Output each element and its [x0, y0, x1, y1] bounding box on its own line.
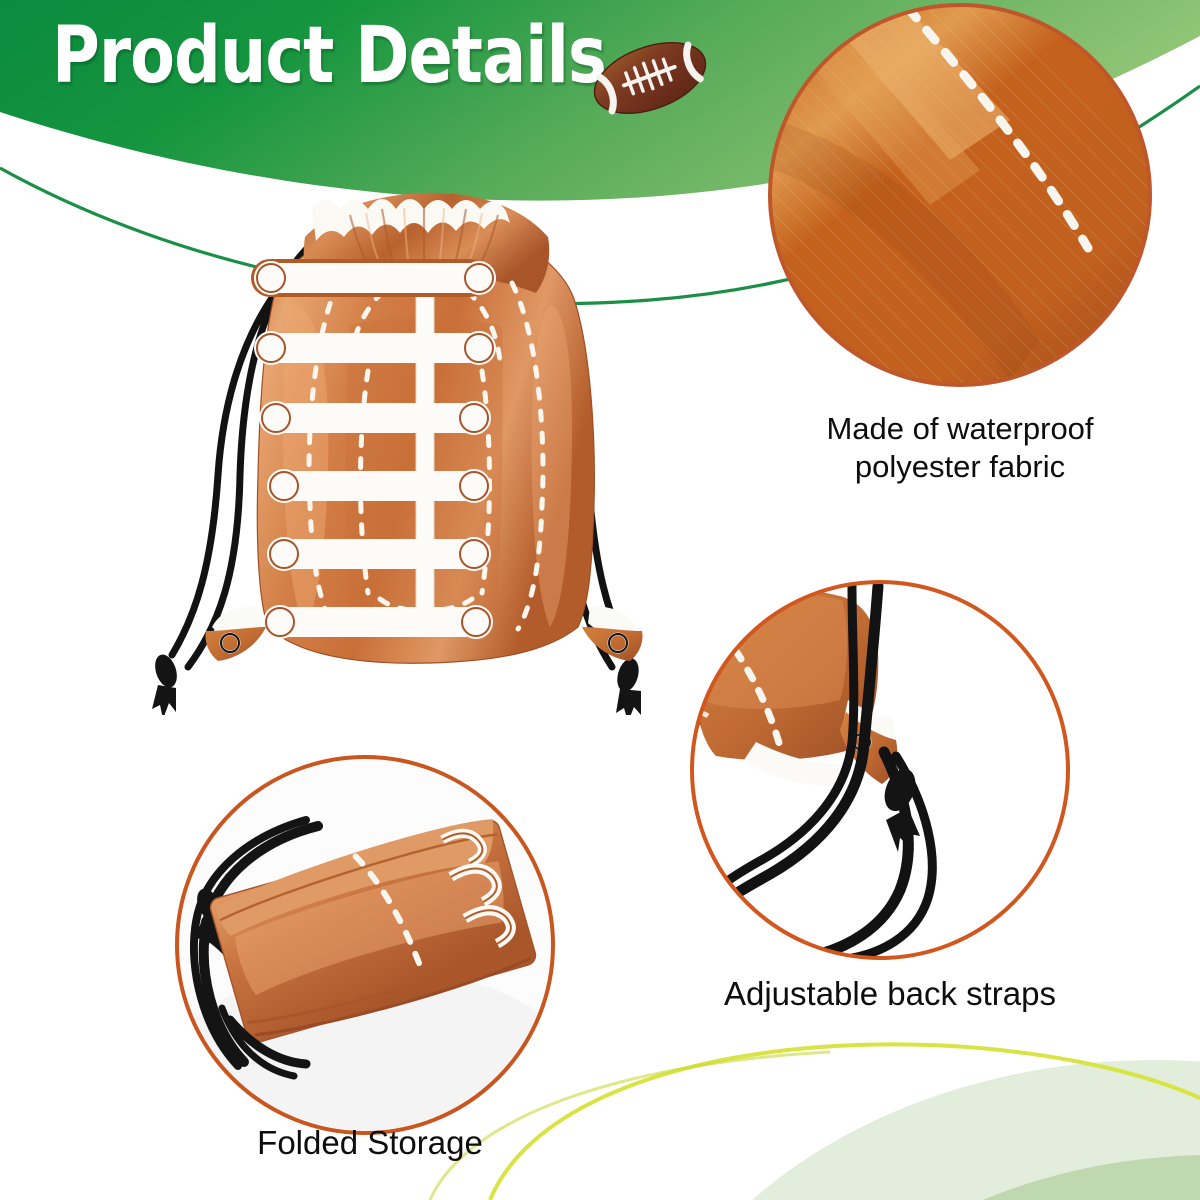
lace-item	[255, 263, 495, 293]
football-icon	[585, 18, 715, 138]
football-drawstring-bag-image	[100, 175, 660, 715]
lace-item	[268, 539, 490, 569]
lace-item	[255, 333, 495, 363]
lace-item	[268, 471, 490, 501]
caption-waterproof-fabric: Made of waterproof polyester fabric	[760, 410, 1160, 486]
page-title: Product Details	[52, 14, 573, 98]
lace-item	[260, 403, 490, 433]
infographic-canvas: Product Details	[0, 0, 1200, 1200]
caption-folded-storage: Folded Storage	[190, 1124, 550, 1162]
lace-item	[264, 607, 492, 637]
bag-lace-spine	[416, 275, 434, 635]
caption-adjustable-straps: Adjustable back straps	[670, 975, 1110, 1013]
